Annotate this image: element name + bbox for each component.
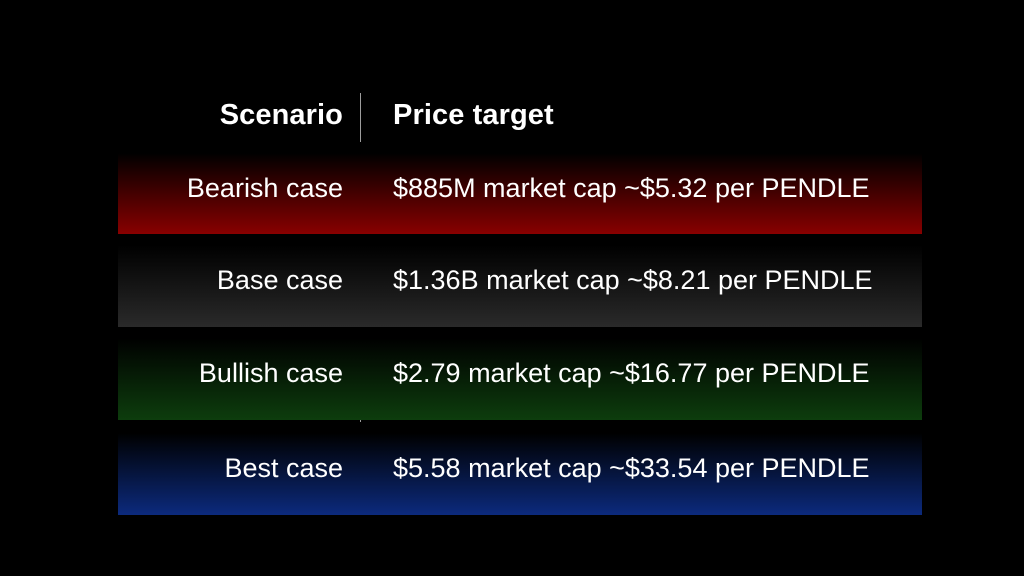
cell-scenario: Bullish case	[118, 358, 343, 389]
slide-canvas: Scenario Price target Bearish case $885M…	[0, 0, 1024, 576]
column-header-scenario: Scenario	[118, 99, 343, 132]
cell-price-target: $2.79 market cap ~$16.77 per PENDLE	[393, 358, 922, 389]
table-row: Bullish case $2.79 market cap ~$16.77 pe…	[118, 327, 922, 420]
cell-scenario: Base case	[118, 265, 343, 296]
cell-price-target: $1.36B market cap ~$8.21 per PENDLE	[393, 265, 922, 296]
cell-price-target: $885M market cap ~$5.32 per PENDLE	[393, 173, 922, 204]
table-row: Base case $1.36B market cap ~$8.21 per P…	[118, 234, 922, 327]
cell-price-target: $5.58 market cap ~$33.54 per PENDLE	[393, 453, 922, 484]
row-content: Base case $1.36B market cap ~$8.21 per P…	[118, 234, 922, 327]
table-row: Best case $5.58 market cap ~$33.54 per P…	[118, 422, 922, 515]
scenario-price-table: Scenario Price target Bearish case $885M…	[118, 78, 922, 515]
cell-scenario: Best case	[118, 453, 343, 484]
row-content: Best case $5.58 market cap ~$33.54 per P…	[118, 422, 922, 515]
table-row: Bearish case $885M market cap ~$5.32 per…	[118, 142, 922, 235]
cell-scenario: Bearish case	[118, 173, 343, 204]
row-content: Bullish case $2.79 market cap ~$16.77 pe…	[118, 327, 922, 420]
row-content: Bearish case $885M market cap ~$5.32 per…	[118, 142, 922, 235]
column-header-price-target: Price target	[393, 99, 922, 132]
